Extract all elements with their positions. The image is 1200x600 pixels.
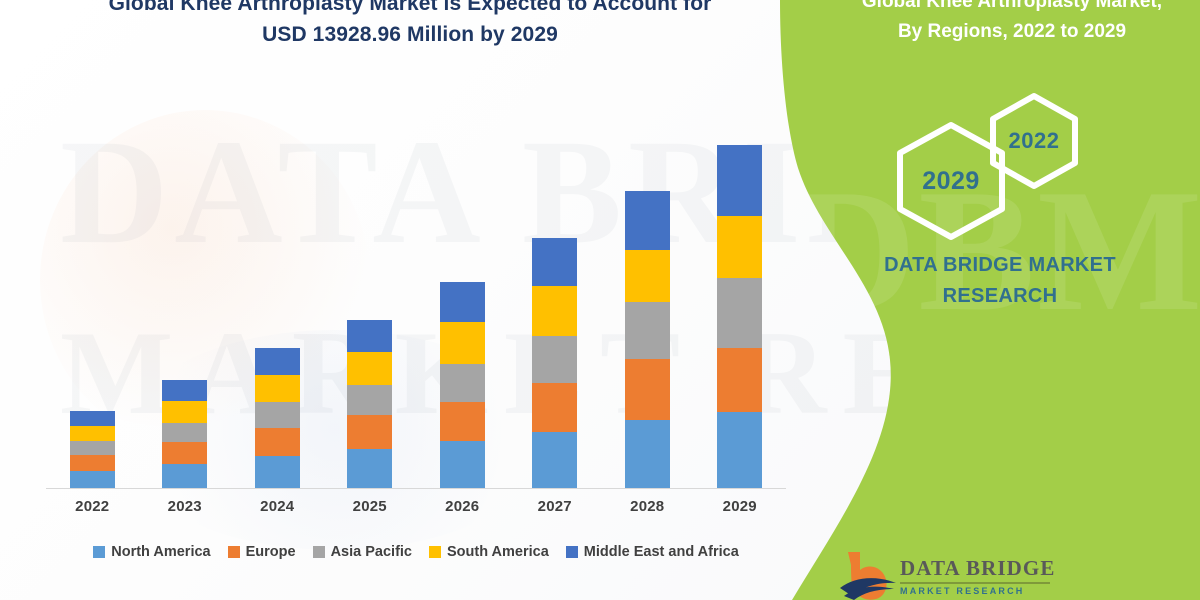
legend-swatch-icon: [429, 546, 441, 558]
x-axis-tick-label: 2023: [139, 498, 232, 515]
bar-group: [46, 60, 139, 488]
hexagon-badge-start-year: 2022: [985, 92, 1083, 190]
legend-item[interactable]: North America: [93, 544, 210, 560]
dbmr-logo-tagline: MARKET RESEARCH: [900, 586, 1055, 596]
legend-label: Europe: [246, 544, 296, 560]
bar-segment[interactable]: [347, 415, 392, 449]
chart-plot-area: 20222023202420252026202720282029 North A…: [0, 0, 820, 600]
bar-segment[interactable]: [70, 411, 115, 426]
dbmr-logo-name: DATA BRIDGE: [900, 556, 1055, 581]
bar-segment[interactable]: [532, 383, 577, 432]
legend-label: North America: [111, 544, 210, 560]
bar-segment[interactable]: [625, 359, 670, 420]
dbmr-logo-text: DATA BRIDGE MARKET RESEARCH: [900, 556, 1055, 596]
bar-segment[interactable]: [347, 352, 392, 385]
bar-segment[interactable]: [255, 456, 300, 488]
bar-segment[interactable]: [532, 336, 577, 383]
legend-item[interactable]: Europe: [228, 544, 296, 560]
bar-segment[interactable]: [625, 302, 670, 358]
bar-segment[interactable]: [717, 412, 762, 488]
dbmr-b-icon: [838, 552, 900, 600]
bar-segment[interactable]: [717, 278, 762, 348]
chart-legend: North AmericaEuropeAsia PacificSouth Ame…: [46, 540, 786, 564]
bar-segment[interactable]: [532, 286, 577, 337]
brand-name: DATA BRIDGE MARKET RESEARCH: [840, 250, 1160, 312]
green-panel-heading-line2: By Regions, 2022 to 2029: [832, 17, 1192, 47]
bar-segment[interactable]: [717, 145, 762, 216]
bar-segment[interactable]: [255, 428, 300, 456]
bar-group: [139, 60, 232, 488]
bar-segment[interactable]: [162, 464, 207, 488]
legend-label: Middle East and Africa: [584, 544, 739, 560]
dbmr-logo: DATA BRIDGE MARKET RESEARCH: [838, 552, 1168, 600]
bar-segment[interactable]: [162, 442, 207, 463]
bar-segment[interactable]: [717, 348, 762, 412]
green-side-panel: DBMR Global Knee Arthroplasty Market, By…: [780, 0, 1200, 600]
bar-group: [416, 60, 509, 488]
stacked-bar[interactable]: [347, 320, 392, 488]
stacked-bar[interactable]: [162, 380, 207, 488]
bar-segment[interactable]: [255, 375, 300, 402]
legend-label: Asia Pacific: [331, 544, 412, 560]
infographic-canvas: DATA BRIDGE MARKET RESEARCH Global Knee …: [0, 0, 1200, 600]
stacked-bar[interactable]: [440, 282, 485, 488]
bar-segment[interactable]: [625, 420, 670, 488]
bar-group: [231, 60, 324, 488]
green-panel-content: DBMR Global Knee Arthroplasty Market, By…: [780, 0, 1200, 600]
bar-segment[interactable]: [532, 238, 577, 286]
x-axis-tick-label: 2028: [601, 498, 694, 515]
hexagon-start-year-label: 2022: [985, 92, 1083, 190]
x-axis-tick-label: 2026: [416, 498, 509, 515]
legend-label: South America: [447, 544, 549, 560]
legend-swatch-icon: [566, 546, 578, 558]
stacked-bar[interactable]: [625, 191, 670, 488]
x-axis-tick-label: 2027: [509, 498, 602, 515]
bar-segment[interactable]: [440, 402, 485, 441]
bar-group: [694, 60, 787, 488]
bar-segment[interactable]: [70, 455, 115, 471]
legend-swatch-icon: [313, 546, 325, 558]
bar-segment[interactable]: [440, 441, 485, 488]
bar-segment[interactable]: [162, 401, 207, 422]
x-axis-tick-label: 2022: [46, 498, 139, 515]
dbmr-logo-rule: [900, 582, 1050, 584]
green-panel-heading: Global Knee Arthroplasty Market, By Regi…: [832, 0, 1192, 47]
legend-item[interactable]: South America: [429, 544, 549, 560]
brand-name-line1: DATA BRIDGE MARKET: [840, 250, 1160, 281]
bar-segment[interactable]: [162, 380, 207, 401]
legend-swatch-icon: [93, 546, 105, 558]
bar-segment[interactable]: [625, 250, 670, 303]
bar-segment[interactable]: [347, 320, 392, 352]
bar-group: [601, 60, 694, 488]
x-axis-tick-labels: 20222023202420252026202720282029: [46, 498, 786, 526]
bar-segment[interactable]: [440, 282, 485, 322]
bar-segment[interactable]: [347, 449, 392, 488]
bar-segment[interactable]: [70, 441, 115, 455]
bar-segment[interactable]: [625, 191, 670, 249]
x-axis-tick-label: 2025: [324, 498, 417, 515]
bar-segment[interactable]: [255, 402, 300, 427]
bar-segment[interactable]: [70, 471, 115, 489]
stacked-bar[interactable]: [255, 348, 300, 488]
stacked-bar[interactable]: [70, 411, 115, 488]
bar-group: [324, 60, 417, 488]
legend-item[interactable]: Asia Pacific: [313, 544, 412, 560]
brand-name-line2: RESEARCH: [840, 281, 1160, 312]
bar-segment[interactable]: [532, 432, 577, 488]
bar-segment[interactable]: [717, 216, 762, 278]
stacked-bar[interactable]: [532, 238, 577, 488]
bar-segment[interactable]: [70, 426, 115, 442]
bar-group: [509, 60, 602, 488]
x-axis-tick-label: 2024: [231, 498, 324, 515]
bar-segment[interactable]: [162, 423, 207, 442]
bar-series-container: [46, 60, 786, 488]
bar-segment[interactable]: [440, 364, 485, 403]
stacked-bar[interactable]: [717, 145, 762, 488]
x-axis-line: [46, 488, 786, 489]
legend-item[interactable]: Middle East and Africa: [566, 544, 739, 560]
hexagon-badges: 2029 2022: [880, 92, 1180, 242]
green-panel-heading-line1: Global Knee Arthroplasty Market,: [832, 0, 1192, 17]
bar-segment[interactable]: [255, 348, 300, 375]
bar-segment[interactable]: [440, 322, 485, 364]
bar-segment[interactable]: [347, 385, 392, 415]
x-axis-tick-label: 2029: [694, 498, 787, 515]
legend-swatch-icon: [228, 546, 240, 558]
